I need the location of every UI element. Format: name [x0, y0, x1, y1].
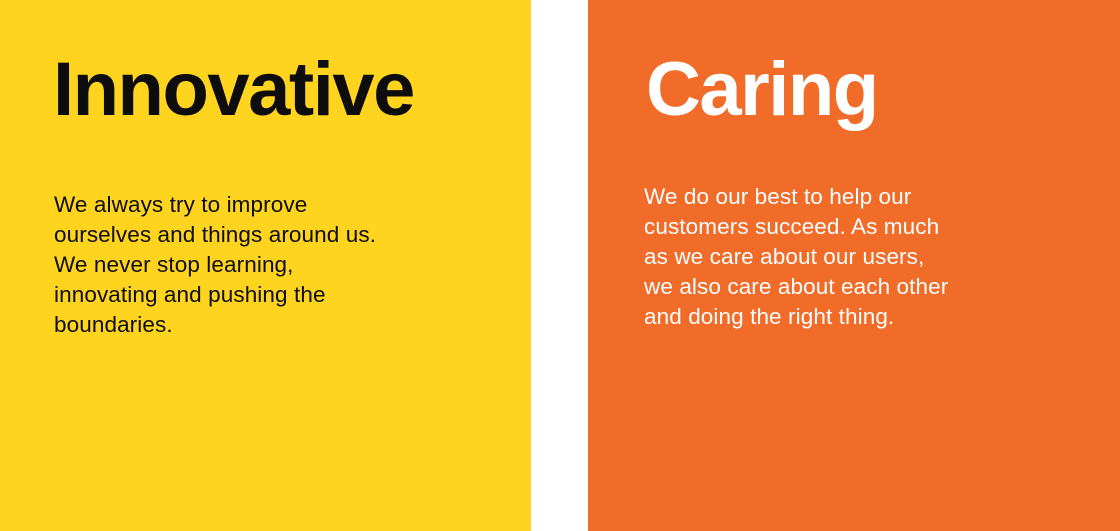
body-line: we also care about each other [644, 272, 1074, 302]
value-card-innovative: Innovative We always try to improve ours… [0, 0, 531, 531]
body-line: boundaries. [54, 310, 494, 340]
value-card-caring: Caring We do our best to help our custom… [588, 0, 1120, 531]
value-card-caring-body: We do our best to help our customers suc… [644, 182, 1074, 332]
body-line: We always try to improve [54, 190, 494, 220]
body-line: customers succeed. As much [644, 212, 1074, 242]
values-board: Innovative We always try to improve ours… [0, 0, 1120, 531]
body-line: ourselves and things around us. [54, 220, 494, 250]
body-line: as we care about our users, [644, 242, 1074, 272]
body-line: We do our best to help our [644, 182, 1074, 212]
value-card-innovative-heading: Innovative [53, 52, 414, 128]
body-line: and doing the right thing. [644, 302, 1074, 332]
body-line: innovating and pushing the [54, 280, 494, 310]
value-card-caring-heading: Caring [646, 52, 878, 128]
value-card-innovative-body: We always try to improve ourselves and t… [54, 190, 494, 340]
body-line: We never stop learning, [54, 250, 494, 280]
